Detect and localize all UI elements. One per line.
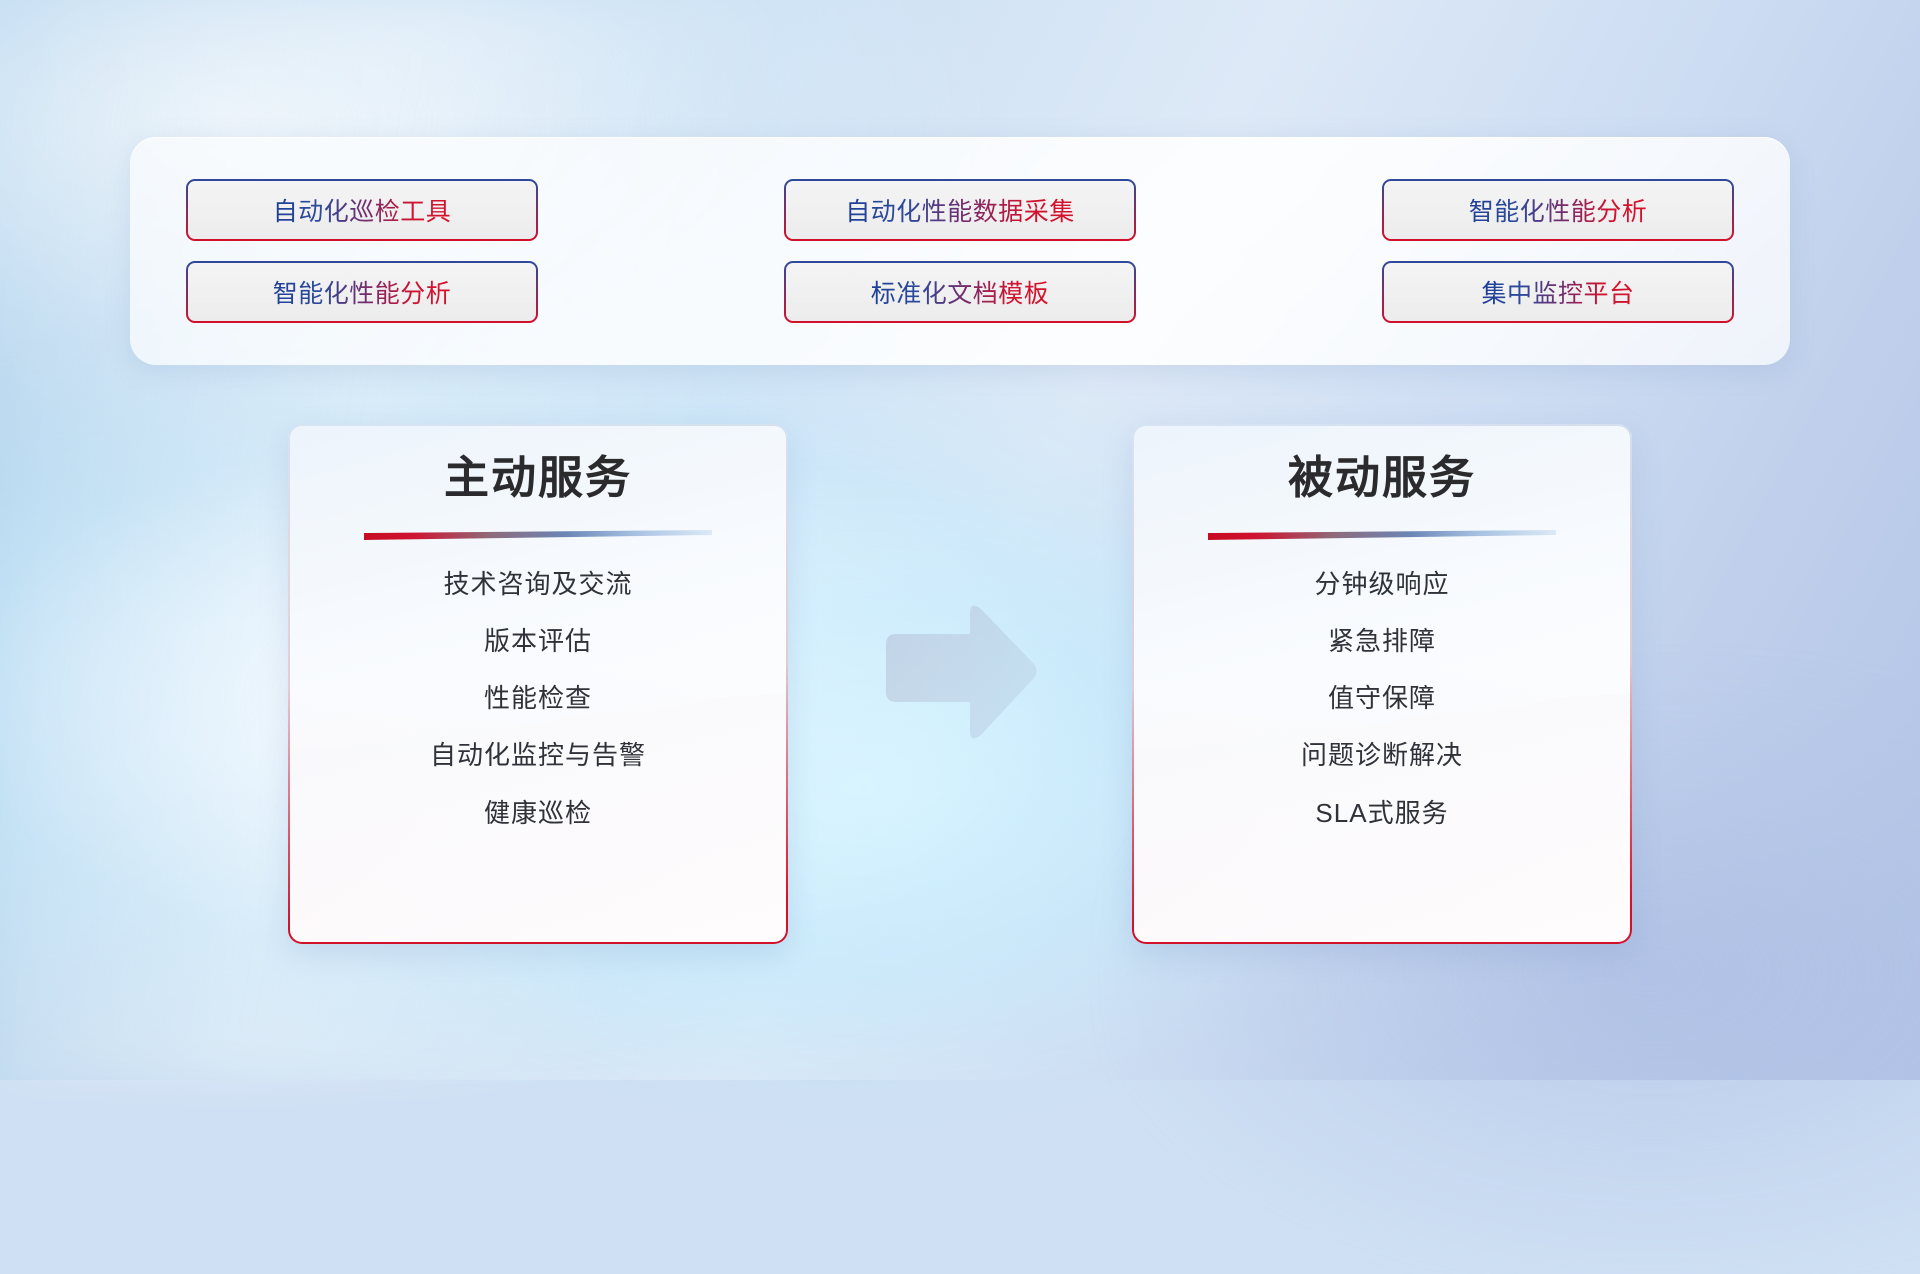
service-list-item: 值守保障 bbox=[1328, 683, 1436, 714]
service-list-item: 健康巡检 bbox=[484, 798, 592, 829]
pill-surface: 智能化性能分析 bbox=[1384, 181, 1732, 239]
capability-pill-label: 自动化性能数据采集 bbox=[845, 192, 1075, 228]
capability-pill-label: 标准化文档模板 bbox=[871, 274, 1050, 310]
capability-row-2: 智能化性能分析 标准化文档模板 集中监控平台 bbox=[186, 261, 1734, 323]
arrow-right-icon bbox=[878, 598, 1042, 748]
capability-pill-automated-performance-data-collection[interactable]: 自动化性能数据采集 bbox=[784, 179, 1136, 241]
capability-pill-standardized-document-template[interactable]: 标准化文档模板 bbox=[784, 261, 1136, 323]
service-item-list: 分钟级响应 紧急排障 值守保障 问题诊断解决 SLA式服务 bbox=[1134, 569, 1630, 829]
pill-surface: 标准化文档模板 bbox=[786, 263, 1134, 321]
service-list-item: 分钟级响应 bbox=[1314, 569, 1449, 600]
capability-pill-label: 集中监控平台 bbox=[1481, 274, 1634, 310]
service-card-surface: 主动服务 技术咨询及交流 版本评估 性能检查 bbox=[290, 426, 786, 942]
capability-row-1: 自动化巡检工具 自动化性能数据采集 智能化性能分析 bbox=[186, 179, 1734, 241]
service-list-item: 自动化监控与告警 bbox=[430, 740, 646, 771]
title-divider-wedge bbox=[364, 530, 712, 541]
service-card-surface: 被动服务 分钟级响应 紧急排障 值守保障 bbox=[1134, 426, 1630, 942]
capability-pill-label: 智能化性能分析 bbox=[1469, 192, 1648, 228]
pill-surface: 自动化巡检工具 bbox=[188, 181, 536, 239]
service-card-active[interactable]: 主动服务 技术咨询及交流 版本评估 性能检查 bbox=[288, 424, 788, 944]
service-list-item: 紧急排障 bbox=[1328, 626, 1436, 657]
pill-surface: 自动化性能数据采集 bbox=[786, 181, 1134, 239]
service-list-item: 性能检查 bbox=[484, 683, 592, 714]
capability-pill-label: 智能化性能分析 bbox=[273, 274, 452, 310]
capability-pill-label: 自动化巡检工具 bbox=[273, 192, 452, 228]
service-list-item: SLA式服务 bbox=[1315, 798, 1448, 829]
capability-panel: 自动化巡检工具 自动化性能数据采集 智能化性能分析 智能化性能分析 标准化文档模… bbox=[130, 137, 1790, 365]
title-divider-wedge bbox=[1208, 530, 1556, 541]
service-card-title: 被动服务 bbox=[1288, 452, 1476, 504]
service-list-item: 技术咨询及交流 bbox=[443, 569, 632, 600]
capability-pill-automated-inspection-tool[interactable]: 自动化巡检工具 bbox=[186, 179, 538, 241]
capability-pill-centralized-monitoring-platform[interactable]: 集中监控平台 bbox=[1382, 261, 1734, 323]
service-list-item: 版本评估 bbox=[484, 626, 592, 657]
service-list-item: 问题诊断解决 bbox=[1301, 740, 1463, 771]
pill-surface: 集中监控平台 bbox=[1384, 263, 1732, 321]
service-card-title: 主动服务 bbox=[444, 452, 632, 504]
service-item-list: 技术咨询及交流 版本评估 性能检查 自动化监控与告警 健康巡检 bbox=[290, 569, 786, 829]
capability-pill-intelligent-performance-analysis[interactable]: 智能化性能分析 bbox=[1382, 179, 1734, 241]
capability-pill-intelligent-performance-analysis-2[interactable]: 智能化性能分析 bbox=[186, 261, 538, 323]
service-card-passive[interactable]: 被动服务 分钟级响应 紧急排障 值守保障 bbox=[1132, 424, 1632, 944]
pill-surface: 智能化性能分析 bbox=[188, 263, 536, 321]
